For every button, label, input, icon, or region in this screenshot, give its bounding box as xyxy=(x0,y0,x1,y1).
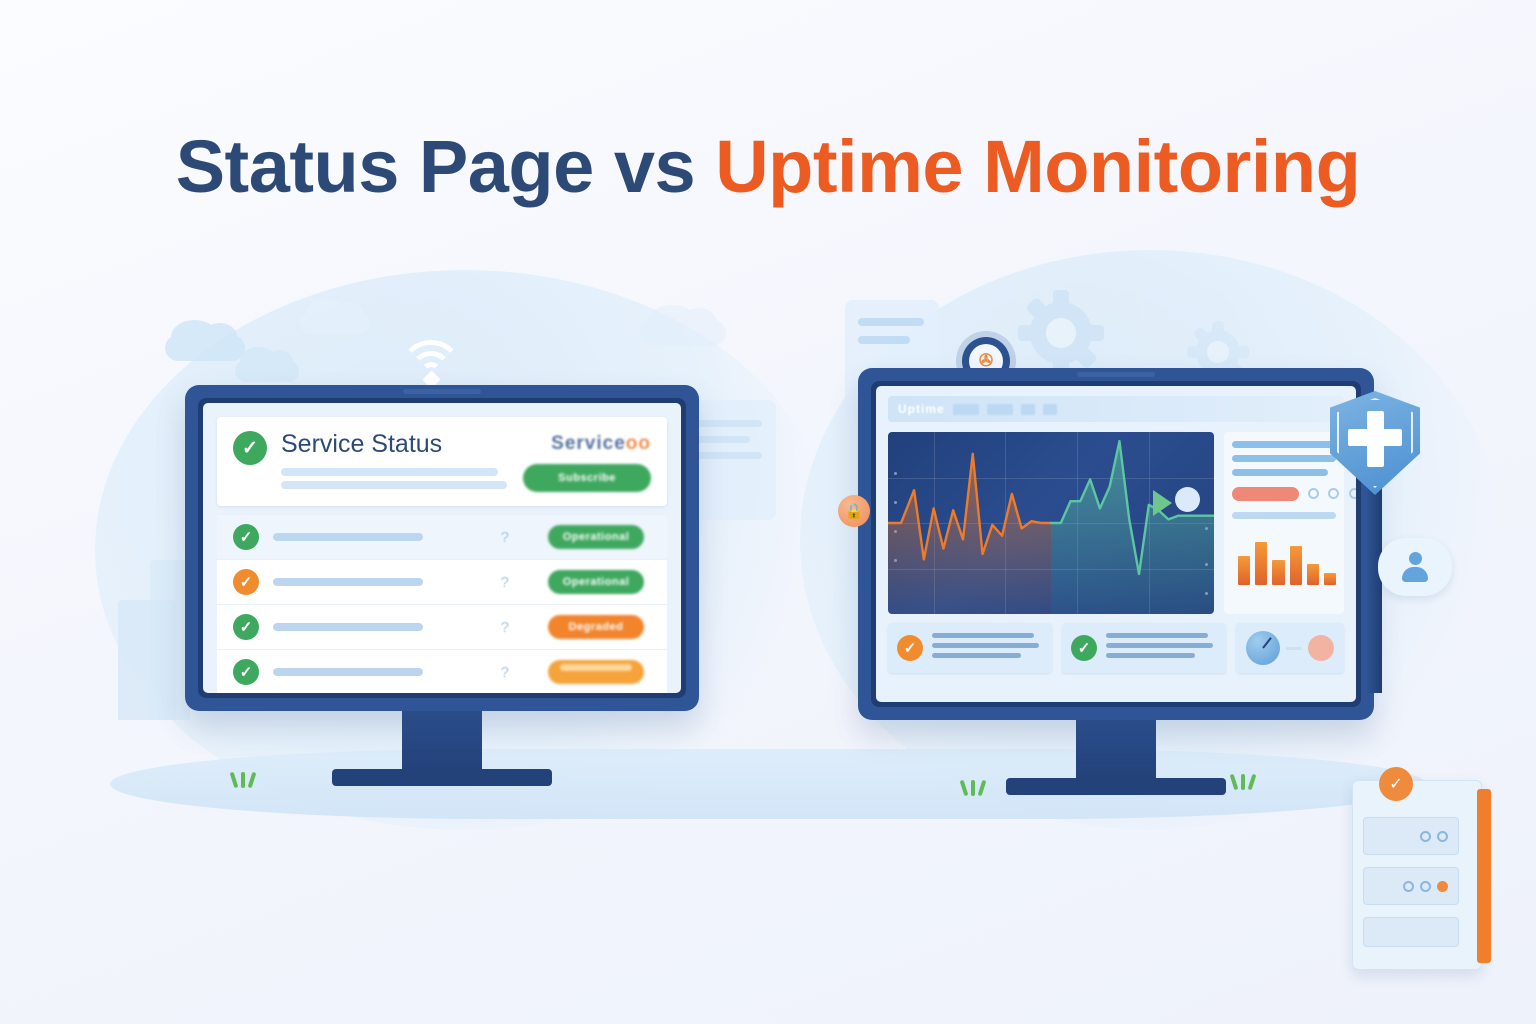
table-row[interactable]: ✓ ? xyxy=(217,649,667,693)
skeleton-line xyxy=(273,623,423,631)
status-badge: Operational xyxy=(548,525,644,549)
table-row[interactable]: ✓ ? Operational xyxy=(217,514,667,559)
skeleton-line xyxy=(273,533,423,541)
shield-health-icon xyxy=(1330,391,1420,495)
rack-status-icon: ✓ xyxy=(1379,767,1413,801)
page-title-left: Status Page vs xyxy=(176,125,695,208)
topbar-segment xyxy=(1021,404,1035,415)
skeleton-line xyxy=(281,481,507,489)
background-line xyxy=(690,452,762,459)
chart-plot xyxy=(888,432,1214,614)
status-page-monitor[interactable]: ✓ Service Status Serviceoo Subscribe xyxy=(185,385,699,786)
row-value: ? xyxy=(437,619,527,636)
card-lines xyxy=(932,633,1043,663)
cloud-decoration xyxy=(640,320,726,346)
check-circle-green-icon: ✓ xyxy=(233,659,259,685)
topbar-segment xyxy=(987,404,1013,415)
chart-endpoint-dot xyxy=(1175,487,1200,512)
monitor-stand-neck xyxy=(402,711,482,769)
cloud-decoration xyxy=(300,312,370,334)
status-page-header: ✓ Service Status Serviceoo Subscribe xyxy=(217,417,667,506)
card-lines xyxy=(1106,633,1217,663)
alert-phone-icon xyxy=(1308,635,1334,661)
monitor-notch xyxy=(1077,372,1155,377)
toggle-ring-icon[interactable] xyxy=(1308,488,1319,499)
row-value: ? xyxy=(437,664,527,681)
uptime-monitoring-monitor[interactable]: Uptime xyxy=(858,368,1374,795)
skeleton-line xyxy=(1232,469,1328,476)
status-card[interactable]: ✓ xyxy=(888,623,1052,673)
uptime-line-chart xyxy=(888,432,1214,614)
dashboard-topbar: Uptime xyxy=(888,396,1344,422)
check-circle-green-icon: ✓ xyxy=(233,614,259,640)
dashboard-side-panel xyxy=(1224,432,1344,614)
gear-icon xyxy=(1030,302,1092,364)
skeleton-line xyxy=(1232,512,1336,519)
alert-pill xyxy=(1232,487,1299,501)
background-line xyxy=(690,436,750,443)
background-line xyxy=(858,336,910,344)
connector-line xyxy=(1286,647,1302,650)
page-title: Status Page vs Uptime Monitoring xyxy=(0,124,1536,209)
background-line xyxy=(690,420,762,427)
row-value: ? xyxy=(437,574,527,591)
topbar-segment xyxy=(1043,404,1057,415)
status-page-brand: Serviceoo xyxy=(523,433,651,455)
check-circle-orange-icon: ✓ xyxy=(233,569,259,595)
wifi-icon xyxy=(397,340,465,386)
lock-icon: 🔒 xyxy=(838,495,870,527)
status-page-screen: ✓ Service Status Serviceoo Subscribe xyxy=(203,403,681,693)
table-row[interactable]: ✓ ? Degraded xyxy=(217,604,667,649)
status-badge: Degraded xyxy=(548,615,644,639)
background-line xyxy=(858,318,924,326)
skeleton-line xyxy=(273,578,423,586)
user-badge-icon xyxy=(1378,538,1452,596)
monitor-notch xyxy=(403,389,481,394)
topbar-segment xyxy=(953,404,979,415)
illustration-canvas: Status Page vs Uptime Monitoring ✇ ✓ Ser… xyxy=(0,0,1536,1024)
dashboard-topbar-label: Uptime xyxy=(898,402,945,416)
monitoring-screen: Uptime xyxy=(876,386,1356,702)
skeleton-line xyxy=(281,468,498,476)
check-circle-green-icon: ✓ xyxy=(233,524,259,550)
monitor-stand-neck xyxy=(1076,720,1156,778)
status-card[interactable] xyxy=(1236,623,1344,673)
server-rack-icon: ✓ xyxy=(1352,780,1482,970)
row-value: ? xyxy=(437,529,527,546)
status-badge: Operational xyxy=(548,570,644,594)
check-circle-green-icon: ✓ xyxy=(233,431,267,465)
skeleton-line xyxy=(1232,441,1336,448)
check-circle-green-icon: ✓ xyxy=(1071,635,1097,661)
skeleton-line xyxy=(273,668,423,676)
status-page-title: Service Status xyxy=(281,431,509,459)
status-card[interactable]: ✓ xyxy=(1062,623,1226,673)
subscribe-button[interactable]: Subscribe xyxy=(523,464,651,492)
check-circle-orange-icon: ✓ xyxy=(897,635,923,661)
status-badge xyxy=(548,660,644,684)
monitor-stand-base xyxy=(332,769,552,786)
cloud-decoration xyxy=(235,360,299,382)
table-row[interactable]: ✓ ? Operational xyxy=(217,559,667,604)
page-title-right: Uptime Monitoring xyxy=(715,125,1360,208)
monitor-stand-base xyxy=(1006,778,1226,795)
side-bar-chart xyxy=(1232,529,1336,585)
skeleton-line xyxy=(1232,455,1336,462)
play-marker-icon xyxy=(1153,490,1172,516)
cloud-decoration xyxy=(165,335,245,361)
gauge-icon xyxy=(1246,631,1280,665)
background-building xyxy=(150,560,190,720)
